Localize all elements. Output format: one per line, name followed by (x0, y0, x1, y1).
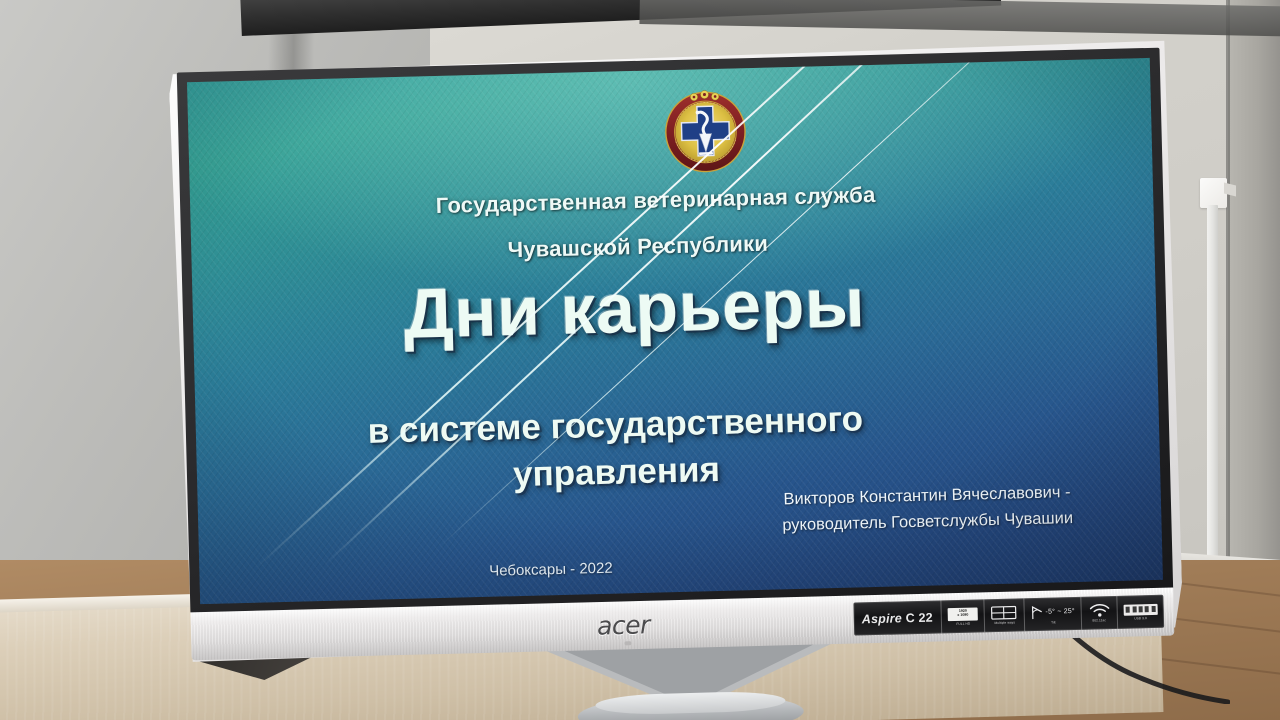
sticker-cell-wifi: 802.11ac (1082, 596, 1118, 630)
sticker-cell-tilt: -5° ~ 25° Tilt (1024, 597, 1083, 631)
display-resolution-badge-icon: 1920 x 1080 (948, 607, 978, 621)
organization-line-1: Государственная ветеринарная служба (187, 176, 1137, 226)
slide-footer: Чебоксары - 2022 (187, 549, 1033, 590)
wifi-icon (1088, 603, 1110, 618)
cable-conduit (1207, 205, 1218, 575)
slide-title: Дни карьеры (187, 260, 1117, 356)
monitor-screen[interactable]: Государственная ветеринарная служба Чува… (187, 58, 1163, 604)
wall-edge-line (1226, 0, 1230, 560)
sticker-model-name: Aspire C 22 (853, 600, 942, 635)
slide-author: Викторов Константин Вячеславович - руков… (727, 479, 1128, 540)
usb-ports-icon (1123, 603, 1157, 615)
veterinary-service-emblem-icon (660, 85, 750, 175)
sticker-model-brand: Aspire (862, 611, 902, 626)
tilt-caption: Tilt (1051, 620, 1056, 624)
tilt-angle-icon (1030, 604, 1043, 619)
sticker-cell-resolution: 1920 x 1080 FULL HD (941, 599, 985, 633)
presentation-slide: Государственная ветеринарная служба Чува… (187, 58, 1163, 604)
power-led-indicator[interactable] (624, 641, 631, 645)
resolution-line-2: x 1080 (957, 614, 968, 618)
sticker-cell-multiwindow: Multiple ways (985, 598, 1025, 632)
acer-brand-logo: acer (597, 610, 650, 640)
acer-monitor: Государственная ветеринарная служба Чува… (169, 39, 1184, 664)
sticker-cell-usb: USB 3.0 (1117, 595, 1164, 629)
wall-outlet-box (1200, 178, 1227, 208)
room-scene: Государственная ветеринарная служба Чува… (0, 0, 1280, 720)
tilt-angle-label: -5° ~ 25° (1045, 607, 1075, 615)
wifi-caption: 802.11ac (1093, 618, 1107, 622)
usb-caption: USB 3.0 (1134, 616, 1147, 620)
multi-window-icon (991, 605, 1017, 620)
right-wall-panel (1228, 0, 1280, 560)
sticker-model-series: C 22 (905, 610, 933, 625)
resolution-caption: FULL HD (956, 621, 970, 625)
multiwindow-caption: Multiple ways (994, 621, 1015, 625)
